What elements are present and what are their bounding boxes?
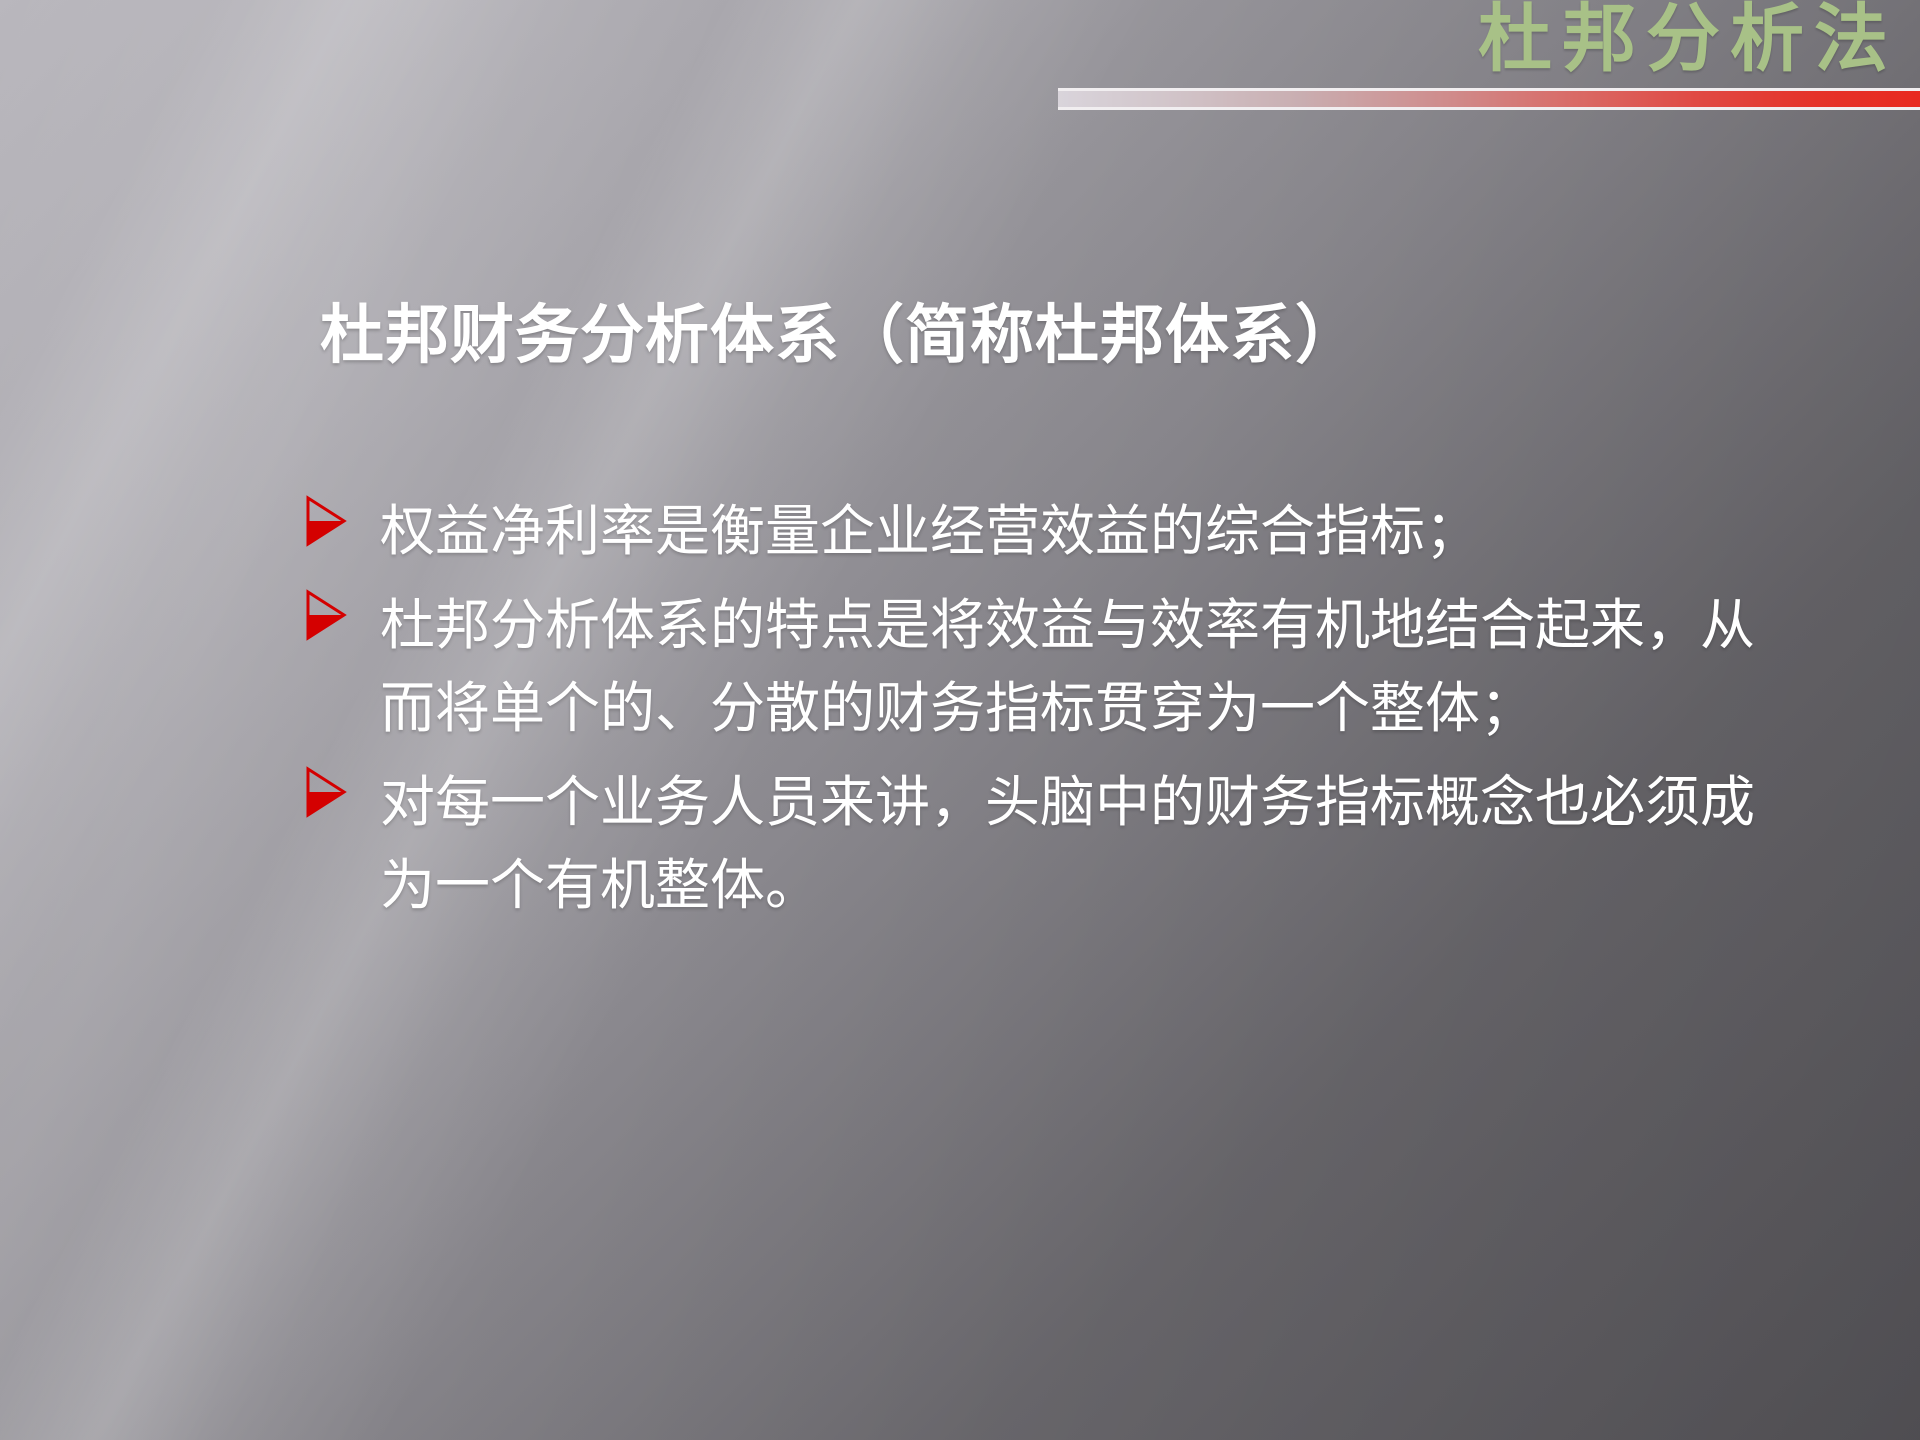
list-item-label: 对每一个业务人员来讲，头脑中的财务指标概念也必须成为一个有机整体。 (380, 761, 1780, 928)
slide-body: 杜邦财务分析体系（简称杜邦体系） 权益净利率是衡量企业经营效益的综合指标； (0, 0, 1920, 1440)
arrow-right-bullet-icon (300, 588, 352, 642)
arrow-right-bullet-icon (300, 765, 352, 819)
slide-canvas: 杜邦分析法 杜邦财务分析体系（简称杜邦体系） 权益净利率是衡量企业经营效益的综合… (0, 0, 1920, 1440)
arrow-right-bullet-icon (300, 494, 352, 548)
list-item-label: 权益净利率是衡量企业经营效益的综合指标； (380, 490, 1780, 574)
list-item-label: 杜邦分析体系的特点是将效益与效率有机地结合起来，从而将单个的、分散的财务指标贯穿… (380, 584, 1780, 751)
page-title: 杜邦财务分析体系（简称杜邦体系） (320, 300, 1360, 374)
bullet-list: 权益净利率是衡量企业经营效益的综合指标； 杜邦分析体系的特点是将效益与效率有机地… (300, 490, 1780, 938)
list-item: 权益净利率是衡量企业经营效益的综合指标； (300, 490, 1780, 574)
list-item: 杜邦分析体系的特点是将效益与效率有机地结合起来，从而将单个的、分散的财务指标贯穿… (300, 584, 1780, 751)
list-item: 对每一个业务人员来讲，头脑中的财务指标概念也必须成为一个有机整体。 (300, 761, 1780, 928)
